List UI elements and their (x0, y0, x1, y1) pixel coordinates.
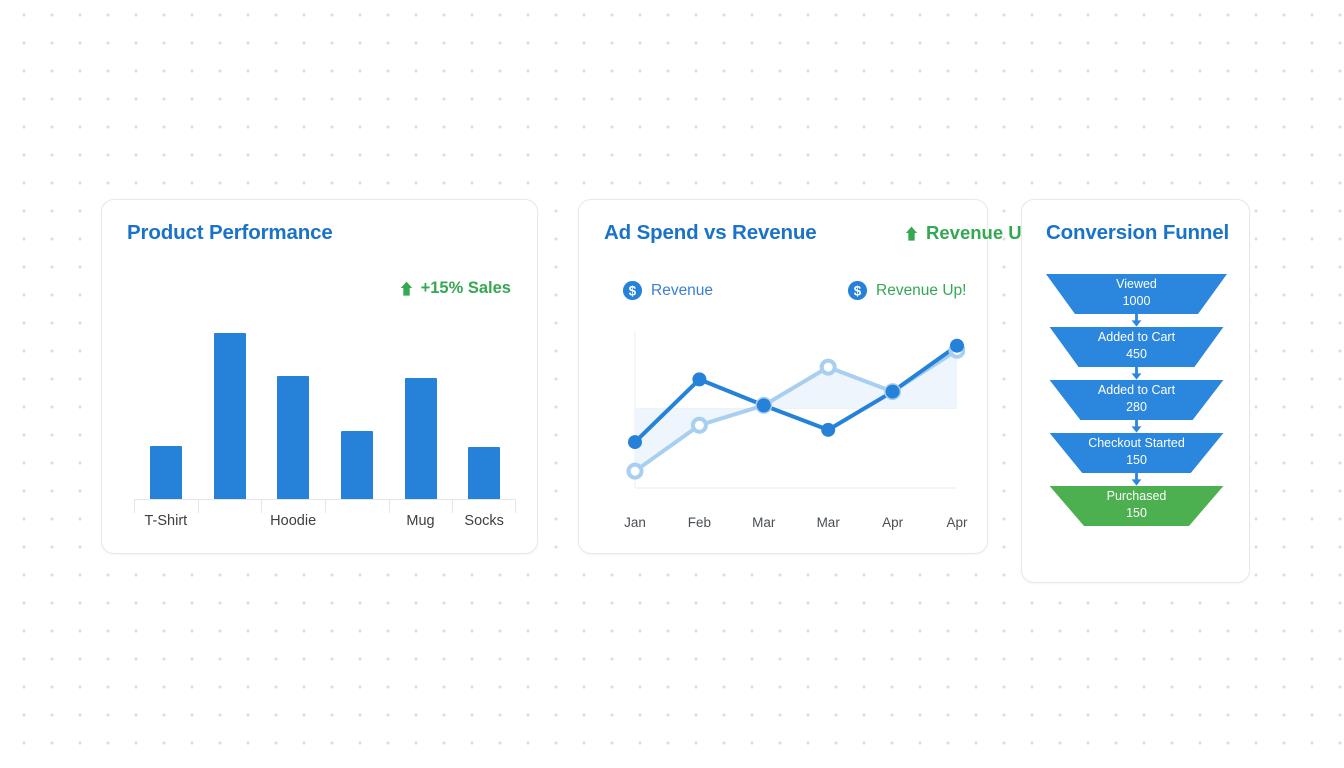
bar-chart-tick-label: Hoodie (270, 513, 316, 529)
line-chart-point[interactable] (822, 361, 835, 374)
funnel-stage-shape (1046, 486, 1227, 526)
line-chart-point[interactable] (692, 372, 706, 386)
bar-chart-bar-rect (468, 447, 500, 499)
bar-chart-bar[interactable] (277, 309, 309, 499)
bar-chart-bar-rect (405, 378, 437, 499)
line-chart-tick-labels: JanFebMarMarAprApr (625, 510, 965, 536)
funnel-arrow (1046, 367, 1227, 380)
funnel-stage[interactable]: Added to Cart280 (1046, 380, 1227, 420)
line-chart-tick-label: Apr (882, 515, 903, 530)
line-chart-point[interactable] (821, 423, 835, 437)
line-chart-area-fill (635, 350, 957, 471)
bar-chart-bar[interactable] (214, 309, 246, 499)
bar-chart-tick-labels: T-ShirtHoodieMugSocks (134, 501, 516, 529)
dashboard-canvas: Product Performance +15% Sales T-ShirtHo… (0, 0, 1344, 768)
svg-text:$: $ (854, 283, 862, 298)
bar-chart-bar-rect (277, 376, 309, 499)
bar-chart-bar[interactable] (468, 309, 500, 499)
funnel-chart: Viewed1000Added to Cart450Added to Cart2… (1046, 274, 1227, 526)
arrow-down-icon (1131, 420, 1142, 433)
line-chart-svg (625, 325, 965, 510)
arrow-up-icon (904, 225, 919, 242)
status-badge-sales-label: +15% Sales (421, 279, 511, 298)
arrow-down-icon (1131, 367, 1142, 380)
dollar-coin-icon: $ (622, 280, 643, 301)
legend-item-revenue[interactable]: $ Revenue (622, 280, 713, 301)
card-ad-spend-vs-revenue: Ad Spend vs Revenue Revenue Up! $ Revenu… (578, 199, 988, 554)
bar-chart-plot (134, 310, 516, 500)
status-badge-revenue-up: Revenue Up! (904, 222, 1039, 244)
line-chart-point[interactable] (628, 435, 642, 449)
line-chart-tick-label: Mar (817, 515, 840, 530)
legend-item-revenue-up[interactable]: $ Revenue Up! (847, 280, 966, 301)
bar-chart-tick-label: Socks (464, 513, 504, 529)
card-product-performance: Product Performance +15% Sales T-ShirtHo… (101, 199, 538, 554)
legend-item-revenue-label: Revenue (651, 282, 713, 300)
line-chart-tick-label: Feb (688, 515, 711, 530)
funnel-arrow (1046, 420, 1227, 433)
line-chart-point[interactable] (629, 465, 642, 478)
card-conversion-funnel: Conversion Funnel Viewed1000Added to Car… (1021, 199, 1250, 583)
arrow-up-icon (399, 280, 414, 297)
funnel-stage-shape (1046, 433, 1227, 473)
arrow-down-icon (1131, 314, 1142, 327)
bar-chart-bar-rect (150, 446, 182, 499)
dollar-coin-icon: $ (847, 280, 868, 301)
line-chart-tick-label: Jan (624, 515, 646, 530)
bar-chart-bar-rect (214, 333, 246, 499)
bar-chart-bar[interactable] (341, 309, 373, 499)
funnel-stage[interactable]: Checkout Started150 (1046, 433, 1227, 473)
svg-text:$: $ (629, 283, 637, 298)
funnel-stage-shape (1046, 380, 1227, 420)
line-chart-tick-label: Mar (752, 515, 775, 530)
funnel-stage-shape (1046, 274, 1227, 314)
line-chart-point[interactable] (886, 385, 900, 399)
legend-item-revenue-up-label: Revenue Up! (876, 282, 966, 300)
arrow-down-icon (1131, 473, 1142, 486)
line-chart-plot (625, 325, 965, 510)
bar-chart-tick-label: Mug (406, 513, 434, 529)
funnel-stage[interactable]: Added to Cart450 (1046, 327, 1227, 367)
bar-chart-tick-label: T-Shirt (144, 513, 187, 529)
funnel-stage[interactable]: Purchased150 (1046, 486, 1227, 526)
page-title-ad-spend-vs-revenue: Ad Spend vs Revenue (604, 221, 816, 245)
funnel-stage-shape (1046, 327, 1227, 367)
page-title-conversion-funnel: Conversion Funnel (1046, 221, 1229, 245)
line-chart-point[interactable] (757, 398, 771, 412)
line-chart-tick-label: Apr (946, 515, 967, 530)
bar-chart-bar-rect (341, 431, 373, 499)
line-chart-point[interactable] (693, 419, 706, 432)
page-title-product-performance: Product Performance (127, 221, 333, 245)
status-badge-sales: +15% Sales (399, 279, 511, 298)
funnel-stage[interactable]: Viewed1000 (1046, 274, 1227, 314)
bar-chart-bar[interactable] (150, 309, 182, 499)
line-chart-point[interactable] (950, 339, 964, 353)
funnel-arrow (1046, 473, 1227, 486)
bar-chart-bar[interactable] (405, 309, 437, 499)
funnel-arrow (1046, 314, 1227, 327)
